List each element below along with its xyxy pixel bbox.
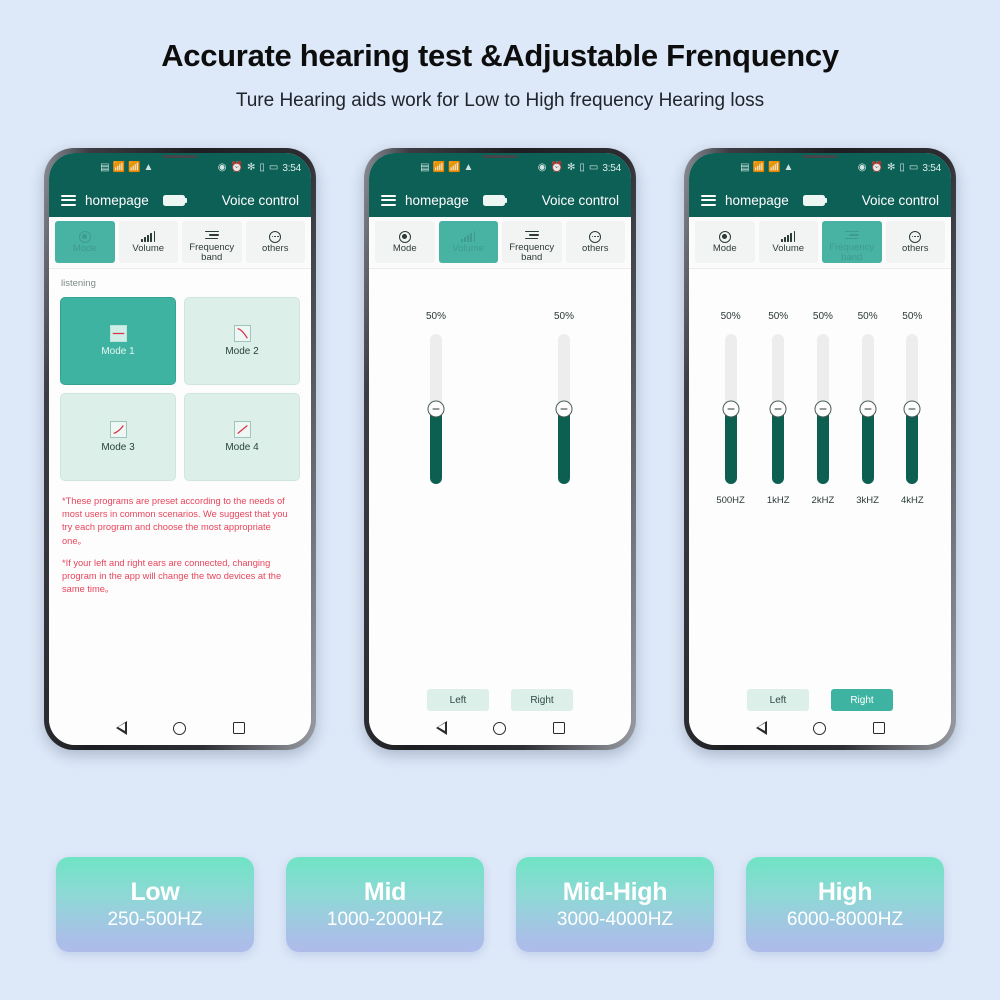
equalizer-icon — [205, 229, 219, 242]
app-bar: homepageVoice control — [49, 183, 311, 217]
tab-frequency-band[interactable]: Frequency band — [822, 221, 882, 263]
tab-label: others — [582, 244, 608, 254]
signal-bars-icon — [781, 230, 795, 243]
equalizer-icon — [525, 229, 539, 242]
sim-card-icon: ▤ — [100, 163, 109, 173]
hearing-curve-icon — [110, 421, 127, 438]
app-bar: homepageVoice control — [689, 183, 951, 217]
wifi-icon: ▲ — [463, 163, 473, 173]
tab-label: Mode — [393, 244, 417, 254]
home-circle-icon[interactable] — [493, 722, 506, 735]
phone-mockup: ▤📶📶▲◉⏰✻▯▭3:54homepageVoice controlModeVo… — [364, 148, 636, 750]
voice-control-button[interactable]: Voice control — [542, 193, 619, 208]
appbar-title: homepage — [85, 193, 149, 208]
slider-frequency-label: 1kHZ — [767, 495, 790, 506]
battery-pill-icon — [163, 195, 185, 206]
recents-square-icon[interactable] — [233, 722, 245, 734]
note-text: *If your left and right ears are connect… — [62, 557, 298, 597]
android-nav-bar — [689, 711, 951, 745]
volume-slider[interactable]: 50%1kHZ — [767, 311, 790, 711]
vibrate-icon: ▯ — [899, 163, 905, 173]
eye-icon: ◉ — [538, 163, 547, 173]
signal-bars-icon: 📶 — [113, 163, 125, 173]
slider-track[interactable] — [906, 334, 918, 484]
slider-fill — [862, 409, 874, 484]
slider-thumb[interactable] — [814, 401, 831, 418]
tab-bar: ModeVolumeFrequency bandothers — [689, 217, 951, 269]
frequency-card-range: 250-500HZ — [107, 909, 202, 931]
frequency-card-title: Mid-High — [563, 878, 668, 907]
slider-fill — [772, 409, 784, 484]
phone-mockup-row: ▤📶📶▲◉⏰✻▯▭3:54homepageVoice controlModeVo… — [0, 148, 1000, 768]
slider-thumb[interactable] — [770, 401, 787, 418]
slider-fill — [430, 409, 442, 484]
slider-thumb[interactable] — [859, 401, 876, 418]
tab-mode[interactable]: Mode — [55, 221, 115, 263]
phone-mockup: ▤📶📶▲◉⏰✻▯▭3:54homepageVoice controlModeVo… — [44, 148, 316, 750]
tab-label: Mode — [73, 244, 97, 254]
recents-square-icon[interactable] — [553, 722, 565, 734]
ellipsis-circle-icon — [589, 230, 601, 243]
app-content: 50%500HZ50%1kHZ50%2kHZ50%3kHZ50%4kHZLeft… — [689, 269, 951, 711]
mode-card[interactable]: Mode 2 — [184, 297, 300, 385]
ear-button[interactable]: Left — [747, 689, 809, 711]
note-text: *These programs are preset according to … — [62, 495, 298, 548]
appbar-title: homepage — [405, 193, 469, 208]
ear-button[interactable]: Left — [427, 689, 489, 711]
slider-frequency-label: 2kHZ — [812, 495, 835, 506]
back-triangle-icon[interactable] — [435, 721, 446, 735]
phone-mockup: ▤📶📶▲◉⏰✻▯▭3:54homepageVoice controlModeVo… — [684, 148, 956, 750]
wifi-icon: ▲ — [783, 163, 793, 173]
slider-fill — [725, 409, 737, 484]
app-bar: homepageVoice control — [369, 183, 631, 217]
mode-label: Mode 4 — [225, 442, 258, 453]
bluetooth-icon: ✻ — [247, 163, 255, 173]
statusbar-clock: 3:54 — [922, 163, 941, 174]
battery-pill-icon — [803, 195, 825, 206]
phone-screen: ▤📶📶▲◉⏰✻▯▭3:54homepageVoice controlModeVo… — [49, 153, 311, 745]
statusbar-left-icons: ▤📶📶▲ — [420, 163, 473, 173]
app-content: listeningMode 1Mode 2Mode 3Mode 4*These … — [49, 269, 311, 711]
phone-screen: ▤📶📶▲◉⏰✻▯▭3:54homepageVoice controlModeVo… — [369, 153, 631, 745]
recents-square-icon[interactable] — [873, 722, 885, 734]
slider-fill — [558, 409, 570, 484]
mode-grid: Mode 1Mode 2Mode 3Mode 4 — [49, 289, 311, 481]
slider-group: 50%500HZ50%1kHZ50%2kHZ50%3kHZ50%4kHZ — [689, 269, 951, 711]
slider-track[interactable] — [558, 334, 570, 484]
mode-label: Mode 3 — [101, 442, 134, 453]
bluetooth-icon: ✻ — [887, 163, 895, 173]
slider-fill — [817, 409, 829, 484]
tab-label: Volume — [772, 244, 804, 254]
alarm-icon: ⏰ — [871, 163, 883, 173]
mode-label: Mode 1 — [101, 346, 134, 357]
tab-mode[interactable]: Mode — [695, 221, 755, 263]
frequency-card-range: 3000-4000HZ — [557, 909, 673, 931]
volume-slider[interactable]: 50%3kHZ — [856, 311, 879, 711]
slider-percent: 50% — [768, 311, 788, 322]
slider-percent: 50% — [858, 311, 878, 322]
signal-bars-icon — [141, 230, 155, 243]
statusbar-right-icons: ◉⏰✻▯▭3:54 — [538, 163, 621, 174]
slider-percent: 50% — [902, 311, 922, 322]
statusbar-clock: 3:54 — [602, 163, 621, 174]
tab-label: Volume — [132, 244, 164, 254]
alarm-icon: ⏰ — [231, 163, 243, 173]
voice-control-button[interactable]: Voice control — [862, 193, 939, 208]
volume-slider[interactable]: 50% — [426, 311, 446, 711]
hamburger-icon[interactable] — [61, 195, 76, 206]
tab-volume[interactable]: Volume — [439, 221, 499, 263]
frequency-card: Mid1000-2000HZ — [286, 857, 484, 952]
signal-bars-2-icon: 📶 — [128, 163, 140, 173]
tab-others[interactable]: others — [566, 221, 626, 263]
frequency-card-title: Mid — [364, 878, 406, 907]
appbar-title: homepage — [725, 193, 789, 208]
slider-frequency-label: 3kHZ — [856, 495, 879, 506]
slider-track[interactable] — [430, 334, 442, 484]
sim-card-icon: ▤ — [420, 163, 429, 173]
vibrate-icon: ▯ — [579, 163, 585, 173]
android-nav-bar — [369, 711, 631, 745]
tab-others[interactable]: others — [886, 221, 946, 263]
tab-label: others — [262, 244, 288, 254]
wifi-icon: ▲ — [143, 163, 153, 173]
tab-volume[interactable]: Volume — [119, 221, 179, 263]
slider-group: 50%50% — [369, 269, 631, 711]
notes-block: *These programs are preset according to … — [49, 481, 311, 596]
tab-label: Frequency band — [182, 243, 242, 263]
tab-others[interactable]: others — [246, 221, 306, 263]
statusbar-left-icons: ▤📶📶▲ — [740, 163, 793, 173]
hearing-curve-icon — [234, 325, 251, 342]
slider-percent: 50% — [721, 311, 741, 322]
frequency-card-title: Low — [130, 878, 179, 907]
volume-slider[interactable]: 50%500HZ — [716, 311, 745, 711]
tab-label: Volume — [452, 244, 484, 254]
page-title: Accurate hearing test &Adjustable Frenqu… — [0, 0, 1000, 74]
slider-percent: 50% — [813, 311, 833, 322]
slider-track[interactable] — [817, 334, 829, 484]
hamburger-icon[interactable] — [701, 195, 716, 206]
tab-label: Frequency band — [502, 243, 562, 263]
ear-selector: LeftRight — [369, 689, 631, 711]
statusbar-right-icons: ◉⏰✻▯▭3:54 — [218, 163, 301, 174]
tab-volume[interactable]: Volume — [759, 221, 819, 263]
ear-button[interactable]: Right — [831, 689, 893, 711]
equalizer-icon — [845, 229, 859, 242]
frequency-card-row: Low250-500HZMid1000-2000HZMid-High3000-4… — [0, 857, 1000, 952]
back-triangle-icon[interactable] — [115, 721, 126, 735]
ear-button[interactable]: Right — [511, 689, 573, 711]
vibrate-icon: ▯ — [259, 163, 265, 173]
statusbar-clock: 3:54 — [282, 163, 301, 174]
frequency-card-title: High — [818, 878, 872, 907]
battery-pill-icon — [483, 195, 505, 206]
slider-thumb[interactable] — [904, 401, 921, 418]
frequency-card: Mid-High3000-4000HZ — [516, 857, 714, 952]
slider-percent: 50% — [426, 311, 446, 322]
tab-bar: ModeVolumeFrequency bandothers — [49, 217, 311, 269]
mode-card[interactable]: Mode 4 — [184, 393, 300, 481]
eye-icon: ◉ — [218, 163, 227, 173]
tab-frequency-band[interactable]: Frequency band — [502, 221, 562, 263]
volume-slider[interactable]: 50%2kHZ — [812, 311, 835, 711]
slider-track[interactable] — [725, 334, 737, 484]
slider-thumb[interactable] — [556, 401, 573, 418]
target-icon — [719, 230, 731, 243]
battery-icon: ▭ — [909, 163, 918, 173]
tab-frequency-band[interactable]: Frequency band — [182, 221, 242, 263]
slider-thumb[interactable] — [427, 401, 444, 418]
volume-slider[interactable]: 50%4kHZ — [901, 311, 924, 711]
android-nav-bar — [49, 711, 311, 745]
statusbar-right-icons: ◉⏰✻▯▭3:54 — [858, 163, 941, 174]
slider-track[interactable] — [772, 334, 784, 484]
frequency-card: High6000-8000HZ — [746, 857, 944, 952]
hamburger-icon[interactable] — [381, 195, 396, 206]
mode-card[interactable]: Mode 3 — [60, 393, 176, 481]
tab-label: Mode — [713, 244, 737, 254]
target-icon — [79, 230, 91, 243]
battery-icon: ▭ — [589, 163, 598, 173]
slider-fill — [906, 409, 918, 484]
slider-frequency-label: 4kHZ — [901, 495, 924, 506]
back-triangle-icon[interactable] — [755, 721, 766, 735]
home-circle-icon[interactable] — [173, 722, 186, 735]
voice-control-button[interactable]: Voice control — [222, 193, 299, 208]
volume-slider[interactable]: 50% — [554, 311, 574, 711]
signal-bars-icon: 📶 — [753, 163, 765, 173]
phone-screen: ▤📶📶▲◉⏰✻▯▭3:54homepageVoice controlModeVo… — [689, 153, 951, 745]
status-bar: ▤📶📶▲◉⏰✻▯▭3:54 — [49, 153, 311, 183]
section-label-listening: listening — [49, 269, 311, 289]
signal-bars-icon — [461, 230, 475, 243]
slider-percent: 50% — [554, 311, 574, 322]
signal-bars-2-icon: 📶 — [448, 163, 460, 173]
target-icon — [399, 230, 411, 243]
slider-thumb[interactable] — [722, 401, 739, 418]
ellipsis-circle-icon — [269, 230, 281, 243]
mode-card[interactable]: Mode 1 — [60, 297, 176, 385]
tab-label: others — [902, 244, 928, 254]
frequency-card: Low250-500HZ — [56, 857, 254, 952]
signal-bars-2-icon: 📶 — [768, 163, 780, 173]
hearing-curve-icon — [110, 325, 127, 342]
status-bar: ▤📶📶▲◉⏰✻▯▭3:54 — [689, 153, 951, 183]
slider-frequency-label: 500HZ — [716, 495, 745, 506]
tab-mode[interactable]: Mode — [375, 221, 435, 263]
battery-icon: ▭ — [269, 163, 278, 173]
ear-selector: LeftRight — [689, 689, 951, 711]
mode-label: Mode 2 — [225, 346, 258, 357]
app-content: 50%50%LeftRight — [369, 269, 631, 711]
signal-bars-icon: 📶 — [433, 163, 445, 173]
hearing-curve-icon — [234, 421, 251, 438]
statusbar-left-icons: ▤📶📶▲ — [100, 163, 153, 173]
bluetooth-icon: ✻ — [567, 163, 575, 173]
page-subtitle: Ture Hearing aids work for Low to High f… — [0, 74, 1000, 112]
home-circle-icon[interactable] — [813, 722, 826, 735]
status-bar: ▤📶📶▲◉⏰✻▯▭3:54 — [369, 153, 631, 183]
tab-label: Frequency band — [822, 243, 882, 263]
slider-track[interactable] — [862, 334, 874, 484]
eye-icon: ◉ — [858, 163, 867, 173]
tab-bar: ModeVolumeFrequency bandothers — [369, 217, 631, 269]
frequency-card-range: 1000-2000HZ — [327, 909, 443, 931]
frequency-card-range: 6000-8000HZ — [787, 909, 903, 931]
sim-card-icon: ▤ — [740, 163, 749, 173]
ellipsis-circle-icon — [909, 230, 921, 243]
alarm-icon: ⏰ — [551, 163, 563, 173]
